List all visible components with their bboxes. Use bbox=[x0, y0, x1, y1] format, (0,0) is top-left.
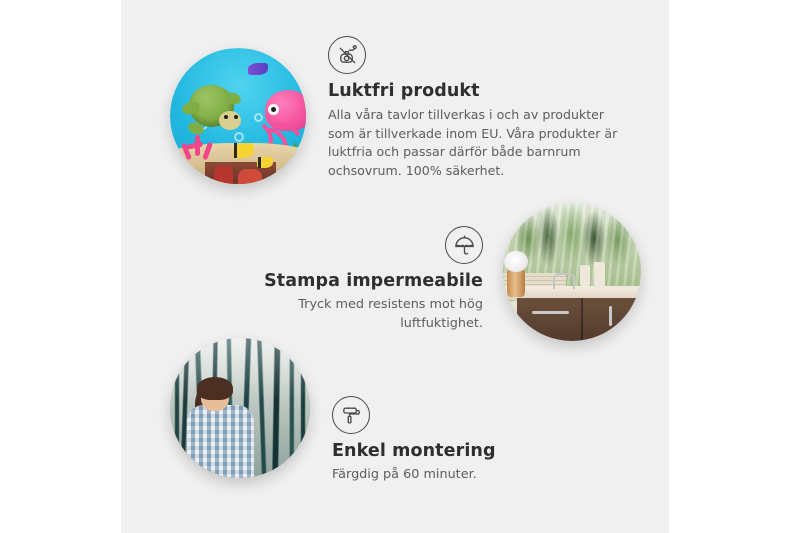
flower bbox=[504, 251, 527, 272]
feature-body: Färgdig på 60 minuter. bbox=[332, 466, 602, 485]
person-body bbox=[187, 405, 254, 478]
feature-body: Tryck med resistens mot hög luftfuktighe… bbox=[221, 296, 483, 334]
sea-scene bbox=[170, 48, 306, 184]
image-forest-mural bbox=[170, 338, 310, 478]
fish-yellow-icon bbox=[257, 157, 273, 168]
fish-purple-icon bbox=[248, 63, 268, 75]
cabinet-handle bbox=[532, 311, 569, 314]
content-panel: Luktfri produkt Alla våra tavlor tillver… bbox=[121, 0, 669, 533]
umbrella-icon bbox=[445, 226, 483, 264]
person-hair bbox=[197, 377, 233, 399]
vanity-cabinet bbox=[517, 298, 641, 341]
sea-rock bbox=[214, 166, 233, 184]
turtle-head bbox=[219, 111, 241, 130]
cabinet-seam bbox=[581, 298, 583, 341]
cabinet-handle bbox=[609, 306, 612, 327]
sea-rock bbox=[238, 169, 262, 184]
turtle-eye bbox=[234, 115, 238, 119]
feature-body: Alla våra tavlor tillverkas i och av pro… bbox=[328, 106, 634, 181]
paint-roller-icon bbox=[332, 396, 370, 434]
feature-odour-free: Luktfri produkt Alla våra tavlor tillver… bbox=[328, 36, 634, 181]
coral bbox=[180, 132, 215, 167]
forest-scene bbox=[170, 338, 310, 478]
bottle bbox=[594, 262, 605, 288]
image-bathroom-mural bbox=[503, 203, 641, 341]
image-sea-mural bbox=[170, 48, 306, 184]
feature-waterproof: Stampa impermeabile Tryck med resistens … bbox=[221, 226, 483, 334]
faucet-icon bbox=[553, 273, 575, 289]
feature-title: Enkel montering bbox=[332, 441, 602, 462]
feature-title: Luktfri produkt bbox=[328, 81, 634, 102]
feature-easy-mounting: Enkel montering Färgdig på 60 minuter. bbox=[332, 396, 602, 485]
octopus-eye bbox=[268, 104, 279, 115]
feature-title: Stampa impermeabile bbox=[221, 271, 483, 292]
bathroom-scene bbox=[503, 203, 641, 341]
bottle bbox=[580, 265, 590, 286]
no-spray-icon bbox=[328, 36, 366, 74]
screenshot-root: Luktfri produkt Alla våra tavlor tillver… bbox=[0, 0, 800, 533]
